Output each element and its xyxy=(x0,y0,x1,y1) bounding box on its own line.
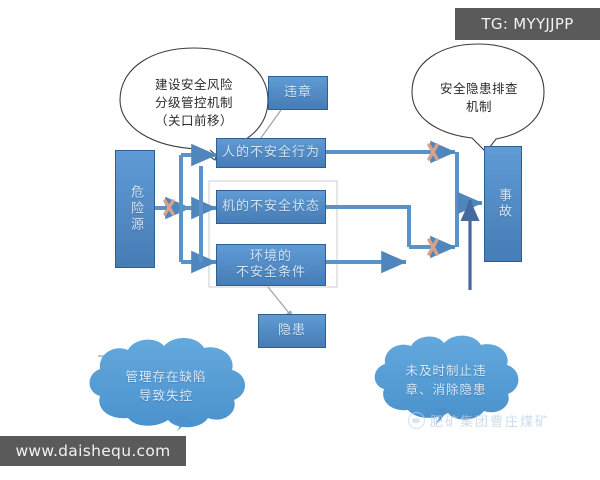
violation-box[interactable]: 违章 xyxy=(268,76,328,110)
hazard-investigation-callout-shape xyxy=(412,44,544,152)
unsafe-environment-box[interactable]: 环境的 不安全条件 xyxy=(216,244,326,286)
site-url-banner: www.daishequ.com xyxy=(0,436,186,466)
company-logo-icon xyxy=(408,412,425,429)
diagram-canvas: 建设安全风险 分级管控机制 （关口前移） 安全隐患排查 机制 危险源 违章 人的… xyxy=(0,0,600,480)
company-watermark-label: 肥矿集团曹庄煤矿 xyxy=(430,411,550,430)
unsafe-behavior-box[interactable]: 人的不安全行为 xyxy=(216,138,326,168)
management-defect-cloud-shape xyxy=(90,338,246,432)
company-watermark: 肥矿集团曹庄煤矿 xyxy=(408,409,578,431)
hidden-danger-box[interactable]: 隐患 xyxy=(258,314,326,348)
telegram-banner: TG: MYYJJPP xyxy=(455,8,600,40)
accident-box[interactable]: 事故 xyxy=(484,146,522,262)
unsafe-machine-box[interactable]: 机的不安全状态 xyxy=(216,190,326,224)
hazard-source-box[interactable]: 危险源 xyxy=(115,150,155,268)
